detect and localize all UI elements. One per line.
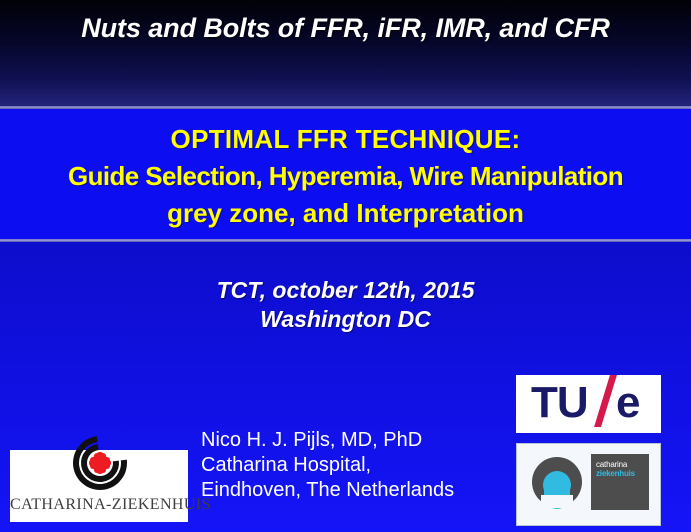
- tu-eindhoven-logo-inner: TU e: [516, 375, 661, 433]
- session-title: Nuts and Bolts of FFR, iFR, IMR, and CFR: [0, 13, 691, 44]
- event-date-line: TCT, october 12th, 2015: [0, 276, 691, 305]
- author-location: Eindhoven, The Netherlands: [201, 478, 454, 503]
- catharina-ziekenhuis-logo: catharina ziekenhuis: [516, 443, 661, 526]
- title-block-divider: [0, 239, 691, 242]
- event-info: TCT, october 12th, 2015 Washington DC: [0, 276, 691, 334]
- presentation-title-line-3: grey zone, and Interpretation: [0, 198, 691, 229]
- presentation-title-block: OPTIMAL FFR TECHNIQUE: Guide Selection, …: [0, 109, 691, 239]
- presentation-title-line-1: OPTIMAL FFR TECHNIQUE:: [0, 124, 691, 155]
- author-name: Nico H. J. Pijls, MD, PhD: [201, 428, 454, 453]
- slide-banner: Nuts and Bolts of FFR, iFR, IMR, and CFR: [0, 0, 691, 106]
- author-info: Nico H. J. Pijls, MD, PhD Catharina Hosp…: [201, 428, 454, 503]
- catharina-wordmark-line-1: catharina: [596, 460, 627, 469]
- catharina-wordmark-line-2: ziekenhuis: [596, 469, 635, 478]
- tu-eindhoven-e-text: e: [616, 377, 640, 429]
- author-affiliation: Catharina Hospital,: [201, 453, 454, 478]
- tu-eindhoven-logo: TU e: [516, 375, 661, 433]
- catharina-ziekenhuis-seal-logo: CATHARINA-ZIEKENHUIS: [10, 450, 188, 522]
- presentation-slide: Nuts and Bolts of FFR, iFR, IMR, and CFR…: [0, 0, 691, 532]
- tu-eindhoven-tu-text: TU: [531, 377, 588, 429]
- catharina-seal-flower-icon: [90, 453, 110, 473]
- catharina-ziekenhuis-logo-inner: catharina ziekenhuis: [517, 444, 660, 525]
- catharina-figure-icon: [532, 457, 582, 507]
- presentation-title-line-2: Guide Selection, Hyperemia, Wire Manipul…: [0, 161, 691, 192]
- catharina-seal-caption: CATHARINA-ZIEKENHUIS: [10, 496, 188, 514]
- catharina-wordmark-plate: catharina ziekenhuis: [591, 454, 649, 510]
- flower-petal-diagonal: [87, 450, 112, 475]
- catharina-notch-shape: [541, 495, 573, 508]
- tu-eindhoven-slash-icon: [594, 375, 617, 427]
- catharina-seal-icon: [73, 436, 129, 492]
- event-location-line: Washington DC: [0, 305, 691, 334]
- catharina-seal-inner: CATHARINA-ZIEKENHUIS: [10, 450, 188, 522]
